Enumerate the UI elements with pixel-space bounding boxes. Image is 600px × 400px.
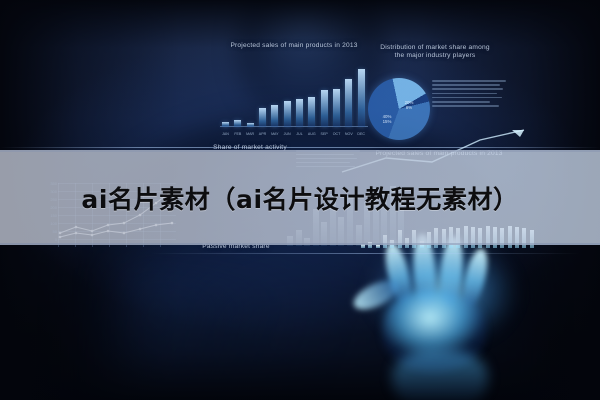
bar-chart-x-label: JAN: [219, 132, 232, 136]
pie-label-small: 20% 8%: [398, 100, 420, 111]
bar-chart-x-label: JUL: [293, 132, 306, 136]
bar-chart-bar: [247, 123, 254, 127]
bar-chart-bar: [271, 105, 278, 127]
bar-chart-x-label: MAY: [268, 132, 281, 136]
dense-bar: [376, 245, 380, 248]
horizon-rule-bottom: [150, 253, 580, 254]
bar-chart-bar: [321, 90, 328, 127]
bar-chart-bar: [308, 97, 315, 127]
bar-chart-bar: [358, 69, 365, 127]
bar-chart-x-label: JUN: [281, 132, 294, 136]
bar-chart-bar: [333, 89, 340, 127]
banner-image: Projected sales of main products in 2013…: [0, 0, 600, 400]
bar-chart-bar: [234, 120, 241, 127]
bar-chart-bar: [222, 122, 229, 127]
bar-chart-x-label: FEB: [231, 132, 244, 136]
bar-chart-bar: [345, 79, 352, 127]
bar-chart-x-label: SEP: [318, 132, 331, 136]
bar-chart-title: Projected sales of main products in 2013: [218, 42, 370, 50]
page-title: ai名片素材（ai名片设计教程无素材）: [0, 150, 600, 245]
pie-label-large: 40% 15%: [376, 114, 398, 125]
monthly-bar-chart: JANFEBMARAPRMAYJUNJULAUGSEPOCTNOVDEC: [220, 58, 368, 136]
pie-chart-body-text: [432, 80, 506, 109]
bar-chart-x-label: MAR: [244, 132, 257, 136]
bar-chart-bar: [259, 108, 266, 127]
bar-chart-bar: [296, 99, 303, 127]
bar-chart-x-label: APR: [256, 132, 269, 136]
bar-chart-x-label: AUG: [305, 132, 318, 136]
bar-chart-bar: [284, 101, 291, 127]
pie-chart-title: Distribution of market share among the m…: [370, 44, 500, 61]
